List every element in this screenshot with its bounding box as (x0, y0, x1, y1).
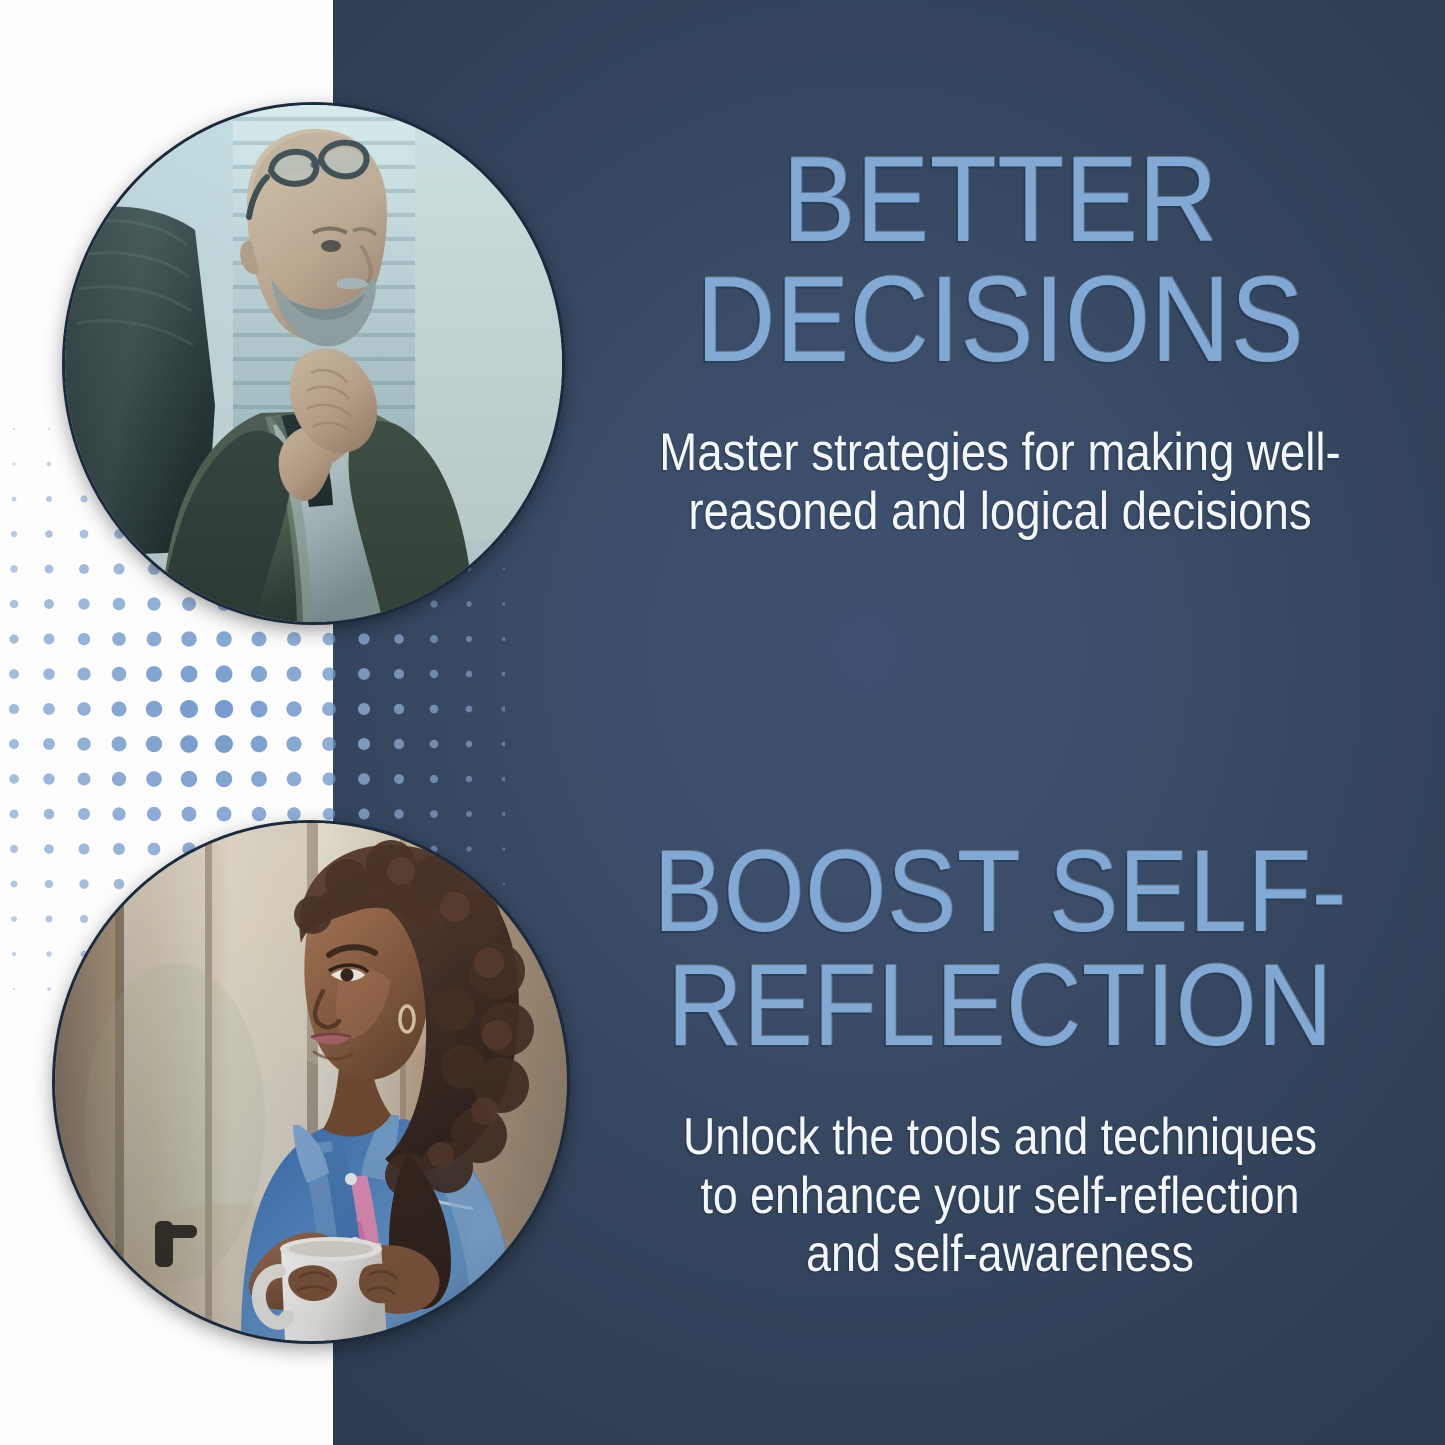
subtext-better-decisions: Master strategies for making well- reaso… (622, 423, 1379, 542)
section-better-decisions: BETTER DECISIONS Master strategies for m… (560, 140, 1440, 542)
headline-boost-self-reflection: BOOST SELF- REFLECTION (604, 835, 1396, 1062)
reflective-woman-photo (55, 823, 567, 1341)
headline-better-decisions: BETTER DECISIONS (604, 140, 1396, 379)
subtext-boost-self-reflection: Unlock the tools and techniques to enhan… (622, 1108, 1379, 1283)
section-boost-self-reflection: BOOST SELF- REFLECTION Unlock the tools … (560, 835, 1440, 1283)
promo-graphic: BETTER DECISIONS Master strategies for m… (0, 0, 1445, 1445)
thoughtful-man-photo (65, 105, 562, 622)
